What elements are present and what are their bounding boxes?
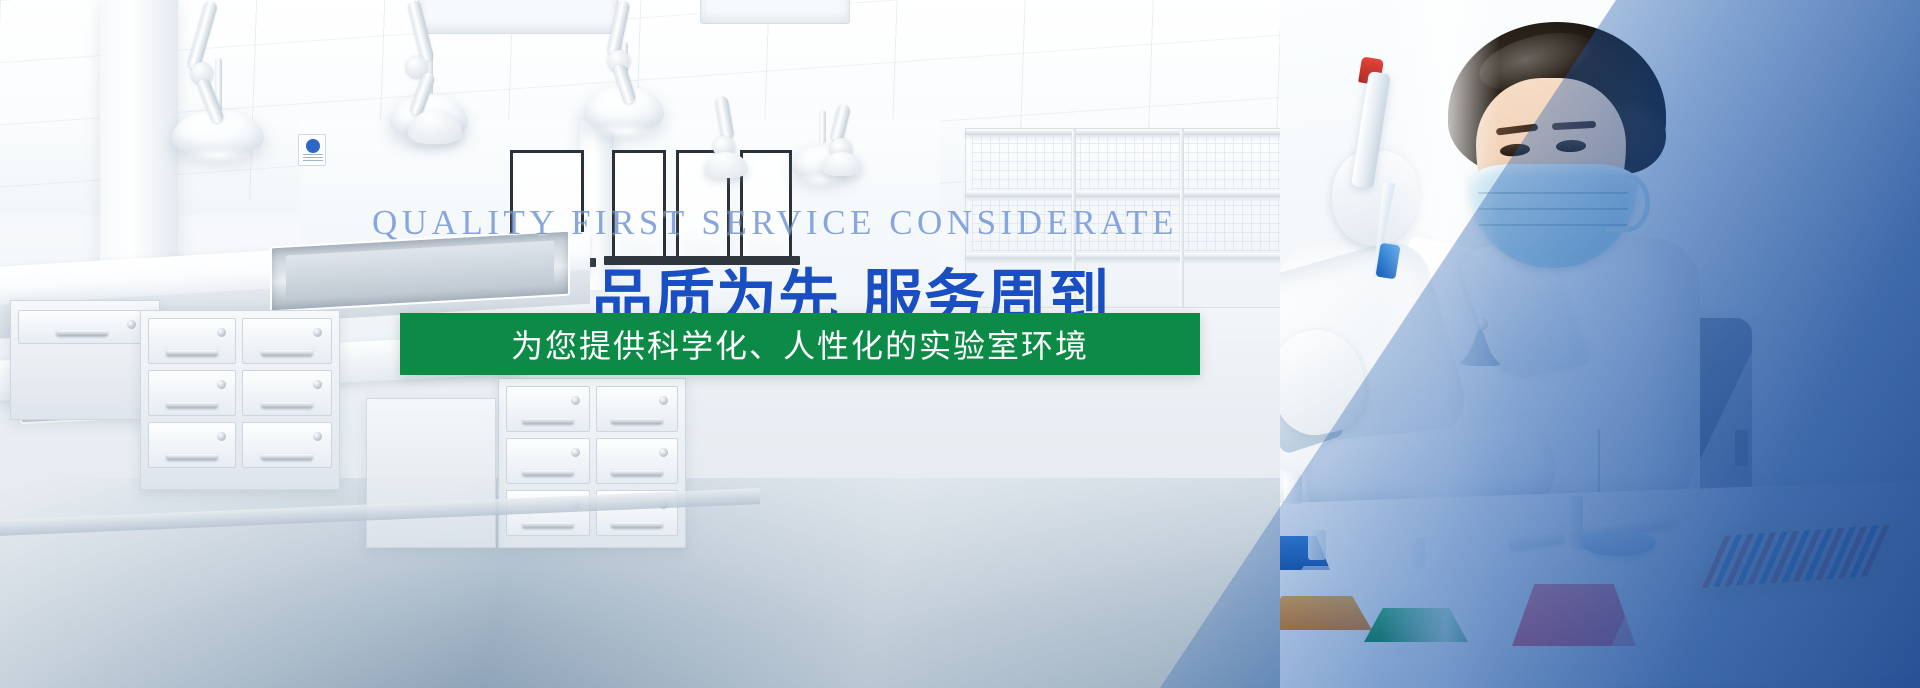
fume-extraction-arm	[196, 0, 326, 120]
floor-reflection	[0, 478, 1420, 688]
fume-extraction-arm	[718, 96, 828, 196]
window-sill	[604, 256, 800, 265]
cabinet-drawer	[596, 386, 678, 432]
cabinet-drawer	[148, 370, 236, 416]
flask-orange	[1280, 530, 1372, 630]
shelf-label-icon	[298, 134, 326, 166]
wall-shelving-unit	[965, 128, 1300, 308]
cabinet-drawer	[242, 318, 332, 364]
structural-pillar	[100, 0, 178, 300]
cabinet-drawer	[242, 370, 332, 416]
base-cabinet	[366, 398, 496, 548]
chair-label	[1735, 430, 1748, 466]
promotional-banner: QUALITY FIRST SERVICE CONSIDERATE 品质为先服务…	[0, 0, 1920, 688]
laboratory-interior-photo	[0, 0, 1420, 688]
technician-photo	[1280, 0, 1920, 688]
cabinet-drawer	[596, 438, 678, 484]
fume-extraction-arm	[834, 104, 934, 194]
fume-extraction-arm	[414, 0, 544, 130]
cabinet-drawer	[242, 422, 332, 468]
shirt-button	[1476, 318, 1488, 330]
mask-ear-loop	[1606, 174, 1650, 232]
flask-green	[1364, 538, 1468, 642]
cabinet-drawer	[506, 438, 590, 484]
cabinet-drawer	[148, 318, 236, 364]
cabinet-drawer	[148, 422, 236, 468]
technician-head	[1448, 22, 1666, 272]
window	[612, 150, 666, 262]
fume-extraction-arm	[612, 0, 732, 120]
cabinet-drawer	[18, 310, 146, 344]
flask-pink	[1512, 496, 1636, 646]
cabinet-drawer	[506, 386, 590, 432]
